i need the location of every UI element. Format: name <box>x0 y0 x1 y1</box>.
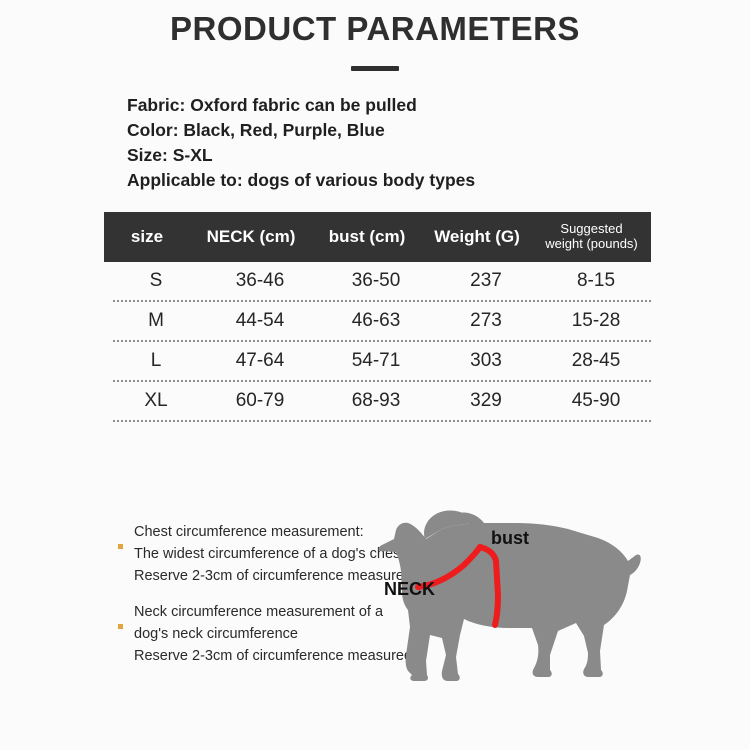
spec-line-size: Size: S-XL <box>127 143 607 168</box>
column-header-suggested-line2: weight (pounds) <box>532 237 651 252</box>
page-title: PRODUCT PARAMETERS <box>0 10 750 48</box>
spec-list: Fabric: Oxford fabric can be pulled Colo… <box>127 93 607 193</box>
cell-neck: 47-64 <box>199 350 321 372</box>
note-group-neck: Neck circumference measurement of a dog'… <box>116 601 416 667</box>
cell-suggested: 28-45 <box>541 350 651 372</box>
cell-size: L <box>113 350 199 372</box>
bullet-icon <box>118 544 123 549</box>
cell-neck: 36-46 <box>199 270 321 292</box>
column-header-weight: Weight (G) <box>422 227 532 247</box>
cell-bust: 36-50 <box>321 270 431 292</box>
table-header-row: size NECK (cm) bust (cm) Weight (G) Sugg… <box>104 212 651 262</box>
title-divider <box>351 66 399 71</box>
cell-size: XL <box>113 390 199 412</box>
measurement-notes: Chest circumference measurement: The wid… <box>116 521 416 681</box>
bullet-icon <box>118 624 123 629</box>
table-row: S 36-46 36-50 237 8-15 <box>113 262 651 302</box>
dog-measurement-figure: NECK bust <box>372 495 672 700</box>
figure-label-bust: bust <box>491 528 529 549</box>
column-header-size: size <box>104 227 190 247</box>
cell-size: M <box>113 310 199 332</box>
size-chart-table: size NECK (cm) bust (cm) Weight (G) Sugg… <box>104 212 651 422</box>
cell-suggested: 15-28 <box>541 310 651 332</box>
cell-weight: 273 <box>431 310 541 332</box>
cell-bust: 68-93 <box>321 390 431 412</box>
column-header-neck: NECK (cm) <box>190 227 312 247</box>
cell-suggested: 45-90 <box>541 390 651 412</box>
spec-line-fabric: Fabric: Oxford fabric can be pulled <box>127 93 607 118</box>
spec-line-applicable: Applicable to: dogs of various body type… <box>127 168 607 193</box>
cell-bust: 46-63 <box>321 310 431 332</box>
cell-bust: 54-71 <box>321 350 431 372</box>
cell-size: S <box>113 270 199 292</box>
column-header-suggested-line1: Suggested <box>532 222 651 237</box>
spec-line-color: Color: Black, Red, Purple, Blue <box>127 118 607 143</box>
cell-weight: 303 <box>431 350 541 372</box>
column-header-bust: bust (cm) <box>312 227 422 247</box>
table-row: XL 60-79 68-93 329 45-90 <box>113 382 651 422</box>
cell-neck: 44-54 <box>199 310 321 332</box>
cell-weight: 329 <box>431 390 541 412</box>
cell-weight: 237 <box>431 270 541 292</box>
column-header-suggested-weight: Suggested weight (pounds) <box>532 222 651 252</box>
table-row: L 47-64 54-71 303 28-45 <box>113 342 651 382</box>
note-group-chest: Chest circumference measurement: The wid… <box>116 521 416 587</box>
cell-suggested: 8-15 <box>541 270 651 292</box>
table-row: M 44-54 46-63 273 15-28 <box>113 302 651 342</box>
cell-neck: 60-79 <box>199 390 321 412</box>
figure-label-neck: NECK <box>384 579 435 600</box>
